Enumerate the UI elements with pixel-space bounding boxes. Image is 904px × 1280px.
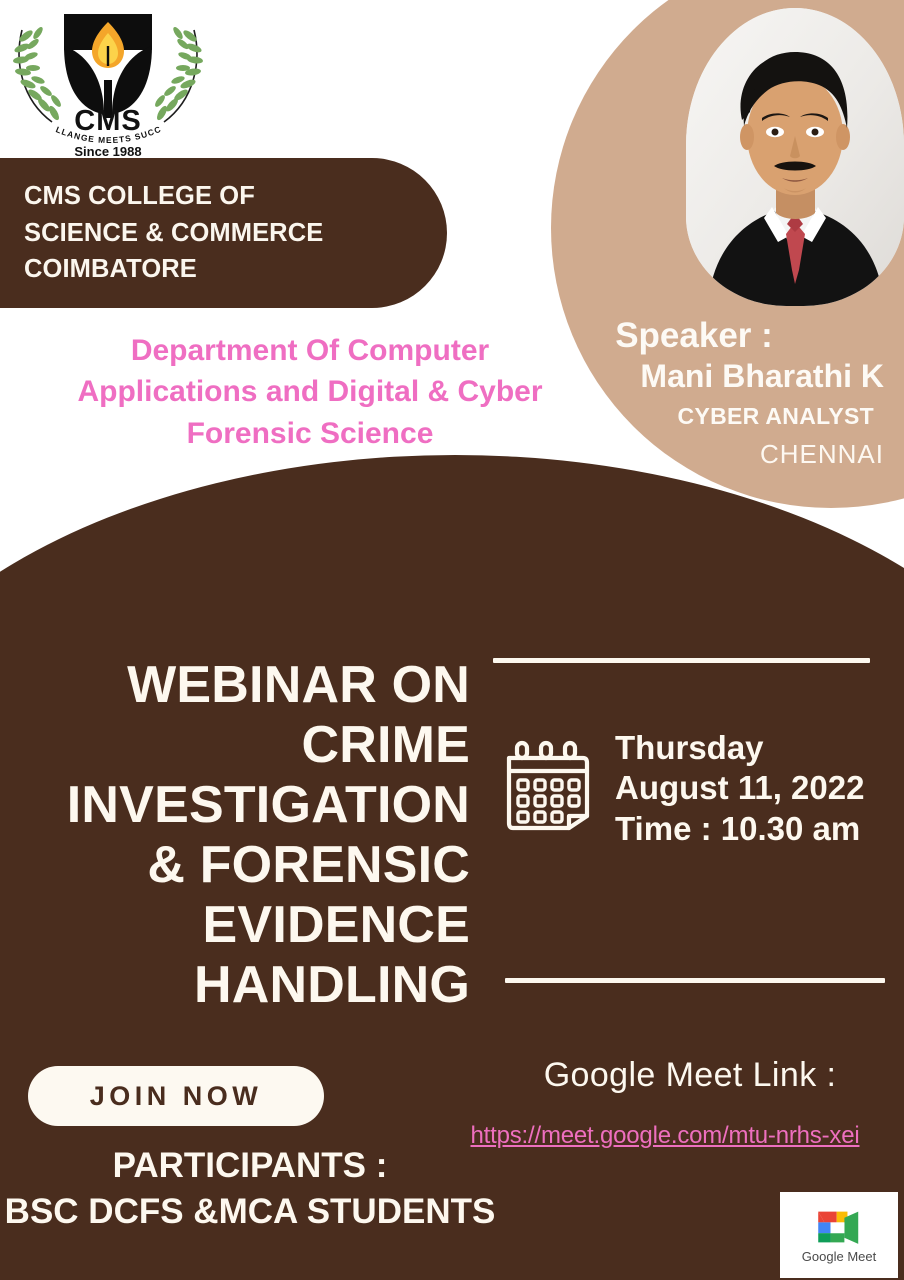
google-meet-caption: Google Meet: [802, 1249, 876, 1264]
svg-text:CMS: CMS: [74, 105, 141, 137]
speaker-name: Mani Bharathi K: [560, 357, 888, 396]
svg-text:Since 1988: Since 1988: [74, 144, 141, 159]
speaker-label: Speaker :: [560, 316, 888, 355]
join-now-button[interactable]: JOIN NOW: [28, 1066, 324, 1126]
event-datetime: Thursday August 11, 2022 Time : 10.30 am: [615, 728, 904, 849]
college-name: CMS COLLEGE OF SCIENCE & COMMERCE COIMBA…: [0, 178, 323, 289]
event-title: WEBINAR ON CRIME INVESTIGATION & FORENSI…: [18, 655, 470, 1015]
speaker-info: Speaker : Mani Bharathi K CYBER ANALYST …: [560, 316, 904, 470]
participants-section: PARTICIPANTS : BSC DCFS &MCA STUDENTS: [0, 1145, 500, 1233]
google-meet-logo: Google Meet: [780, 1192, 898, 1278]
google-meet-url[interactable]: https://meet.google.com/mtu-nrhs-xei: [455, 1122, 875, 1150]
participants-heading: PARTICIPANTS :: [0, 1145, 500, 1187]
speaker-role: CYBER ANALYST: [560, 403, 888, 431]
participants-list: BSC DCFS &MCA STUDENTS: [0, 1191, 500, 1233]
speaker-city: CHENNAI: [560, 439, 888, 470]
divider-bottom: [505, 978, 885, 983]
google-meet-link-label: Google Meet Link :: [500, 1056, 880, 1095]
cms-college-logo: CMS CHALLANGE MEETS SUCCESS Since 1988: [8, 2, 208, 160]
calendar-icon: [503, 738, 593, 832]
google-meet-icon: [813, 1207, 865, 1247]
speaker-photo: [686, 8, 904, 306]
join-now-label: JOIN NOW: [90, 1081, 263, 1112]
college-name-bar: CMS COLLEGE OF SCIENCE & COMMERCE COIMBA…: [0, 158, 447, 308]
divider-top: [493, 658, 870, 663]
webinar-poster: CMS CHALLANGE MEETS SUCCESS Since 1988 C…: [0, 0, 904, 1280]
department-name: Department Of Computer Applications and …: [0, 330, 620, 454]
